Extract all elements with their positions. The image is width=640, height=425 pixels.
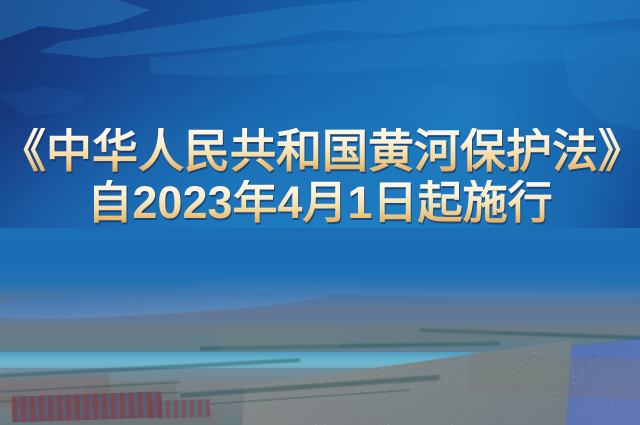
headline-line-1: 《中华人民共和国黄河保护法》 [0, 128, 640, 176]
banner-photo-blend-seam [0, 228, 640, 300]
poster: 《中华人民共和国黄河保护法》 自2023年4月1日起施行 [0, 0, 640, 425]
headline-line-2: 自2023年4月1日起施行 [0, 180, 640, 227]
headline: 《中华人民共和国黄河保护法》 自2023年4月1日起施行 [0, 128, 640, 227]
